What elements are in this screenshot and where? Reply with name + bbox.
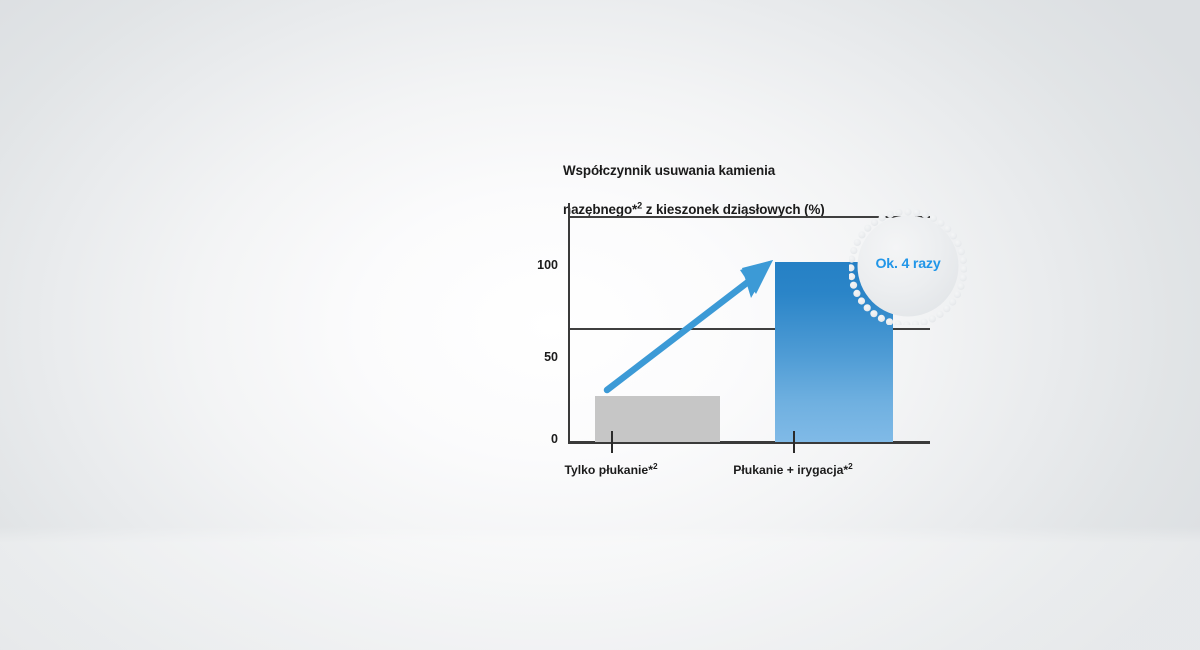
gridline-middle <box>570 328 930 330</box>
x-tick-mark-1 <box>611 431 613 453</box>
chart-title-line-1: Współczynnik usuwania kamienia <box>563 163 775 178</box>
chart-title-line-2-post: z kieszonek dziąsłowych (%) <box>642 202 825 217</box>
x-axis-label-rinsing-plus-irrigation: Płukanie + irygacja*2 <box>718 463 868 477</box>
x-axis-label-1-text: Tylko płukanie* <box>564 463 653 477</box>
bar-rinsing-only <box>595 396 720 442</box>
chart-canvas: Współczynnik usuwania kamienia nazębnego… <box>0 0 1200 650</box>
growth-arrow-icon <box>590 248 790 408</box>
y-tick-label-50: 50 <box>518 350 558 364</box>
badge-label: Ok. 4 razy <box>849 256 967 272</box>
x-axis-label-2-footnote: 2 <box>848 461 853 471</box>
x-axis-line <box>568 441 930 444</box>
x-axis-label-1-footnote: 2 <box>653 461 658 471</box>
chart-title-line-2-pre: nazębnego* <box>563 202 637 217</box>
badge-approx-4x: Ok. 4 razy <box>849 207 967 325</box>
x-tick-mark-2 <box>793 431 795 453</box>
x-axis-label-rinsing-only: Tylko płukanie*2 <box>536 463 686 477</box>
plot-area: 100 50 0 Tylko płukanie*2 Płukanie + iry… <box>0 0 1200 650</box>
y-tick-label-100: 100 <box>518 258 558 272</box>
y-tick-label-0: 0 <box>518 432 558 446</box>
x-axis-label-2-text: Płukanie + irygacja* <box>733 463 848 477</box>
y-axis-line <box>568 203 570 443</box>
